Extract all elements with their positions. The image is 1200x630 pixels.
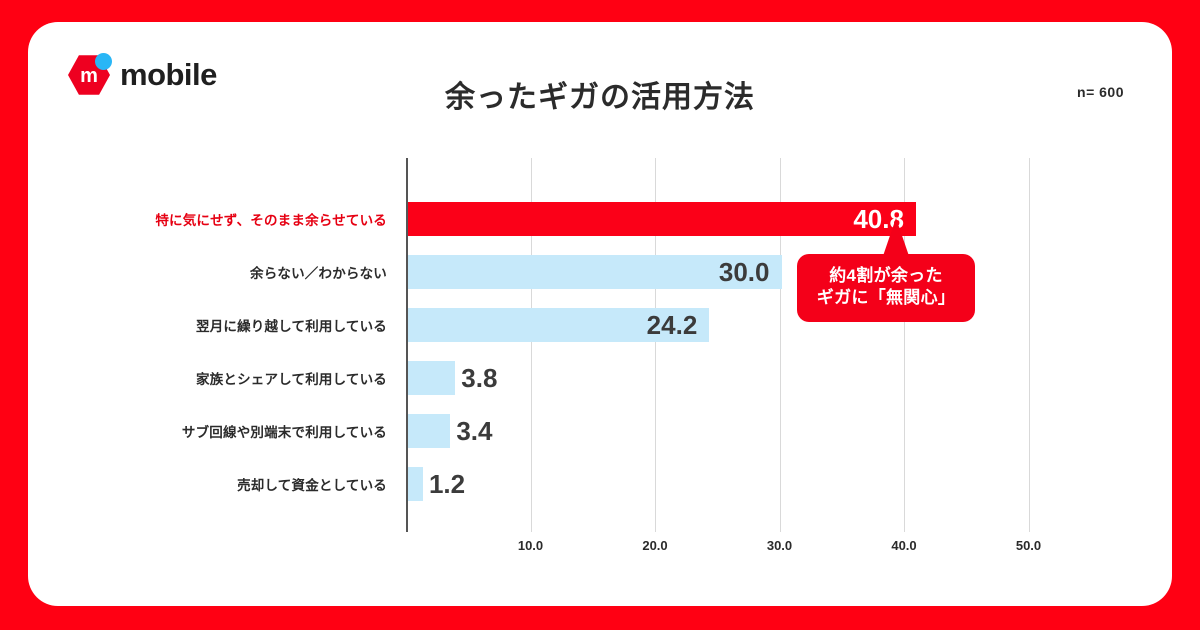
category-label: 特に気にせず、そのまま余らせている (28, 196, 400, 242)
bar-value-label: 1.2 (429, 467, 465, 501)
content-card: m mobile 余ったギガの活用方法 n= 600 特に気にせず、そのまま余ら… (28, 22, 1172, 606)
callout-line-2: ギガに「無関心」 (805, 287, 967, 309)
x-axis-tick-label: 30.0 (767, 538, 792, 553)
bar[interactable] (408, 361, 455, 395)
bar[interactable] (408, 414, 450, 448)
chart-row: 3.4 (406, 408, 1086, 454)
callout-pointer-icon (883, 218, 909, 256)
category-label: サブ回線や別端末で利用している (28, 408, 400, 454)
callout-balloon: 約4割が余った ギガに「無関心」 (797, 254, 975, 322)
bar[interactable] (408, 467, 423, 501)
chart-row: 40.8 (406, 196, 1086, 242)
x-axis-tick-label: 40.0 (891, 538, 916, 553)
callout-line-1: 約4割が余った (805, 265, 967, 287)
bar-value-label: 30.0 (408, 255, 782, 289)
chart-row: 3.8 (406, 355, 1086, 401)
bar-value-label: 40.8 (408, 202, 916, 236)
bar-value-label: 24.2 (408, 308, 709, 342)
category-label: 翌月に繰り越して利用している (28, 302, 400, 348)
x-axis-tick-label: 20.0 (642, 538, 667, 553)
x-axis-tick-label: 10.0 (518, 538, 543, 553)
category-label: 余らない／わからない (28, 249, 400, 295)
category-label: 家族とシェアして利用している (28, 355, 400, 401)
chart-row: 24.2 (406, 302, 1086, 348)
category-label: 売却して資金としている (28, 461, 400, 507)
plot-area: 10.020.030.040.050.040.830.024.23.83.41.… (406, 158, 1086, 532)
bar-chart: 特に気にせず、そのまま余らせている余らない／わからない翌月に繰り越して利用してい… (28, 22, 1172, 606)
chart-row: 30.0 (406, 249, 1086, 295)
bar-value-label: 3.4 (456, 414, 492, 448)
x-axis-tick-label: 50.0 (1016, 538, 1041, 553)
bar-value-label: 3.8 (461, 361, 497, 395)
chart-row: 1.2 (406, 461, 1086, 507)
